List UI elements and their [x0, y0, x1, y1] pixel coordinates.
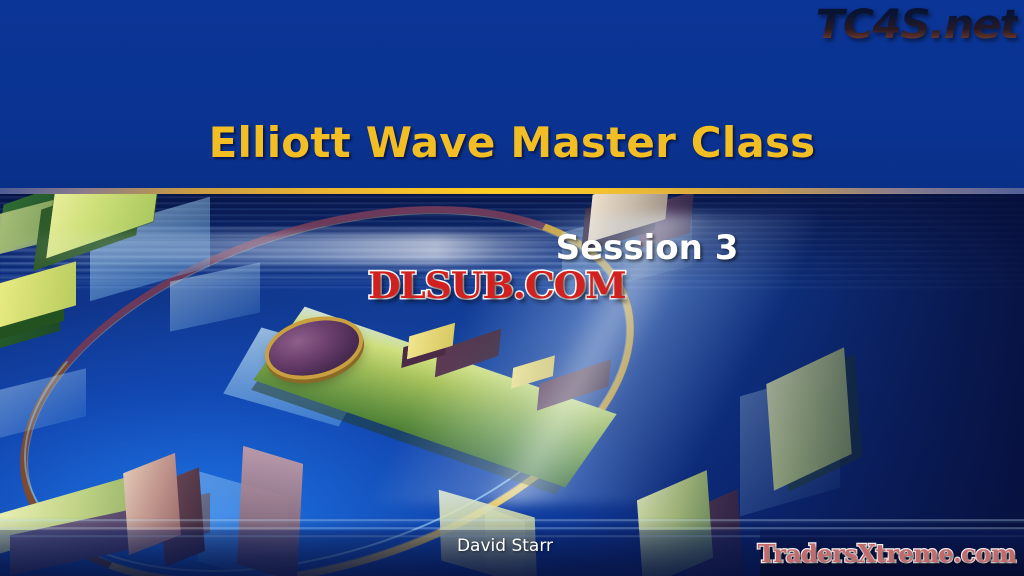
watermark-tc4s: TC4S.net [815, 2, 1018, 48]
watermark-dlsub: DLSUB.COM [368, 265, 626, 307]
presentation-slide: Elliott Wave Master Class Session 3 Davi… [0, 0, 1024, 576]
slide-subtitle-session: Session 3 [0, 228, 1024, 268]
watermark-tradersxtreme: TradersXtreme.com [758, 539, 1016, 568]
slide-title: Elliott Wave Master Class [0, 118, 1024, 167]
